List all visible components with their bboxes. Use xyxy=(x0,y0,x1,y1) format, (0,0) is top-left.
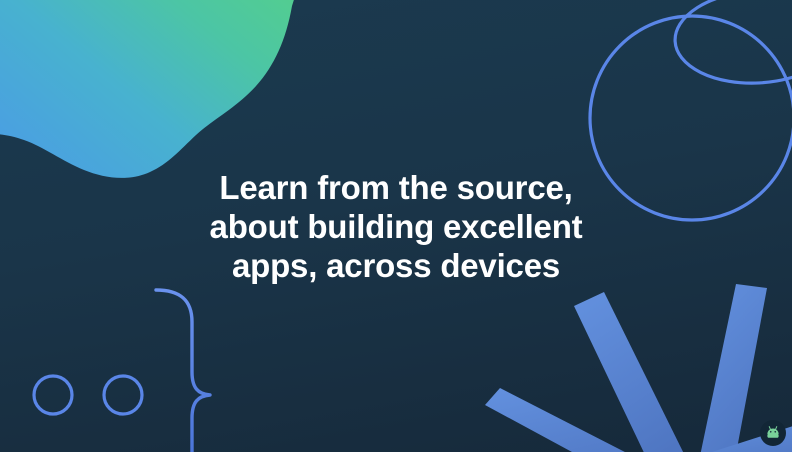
small-circle-left xyxy=(34,376,72,414)
fan-bars-group xyxy=(485,284,792,452)
curly-brace-outline xyxy=(156,290,210,452)
large-ring-outline xyxy=(590,16,792,220)
android-bugdroid-icon xyxy=(764,424,782,442)
fan-bar-3 xyxy=(695,284,767,452)
small-circle-right xyxy=(104,376,142,414)
presentation-slide: Learn from the source, about building ex… xyxy=(0,0,792,452)
gradient-blob xyxy=(0,0,300,178)
slide-background-graphics xyxy=(0,0,792,452)
android-logo-badge xyxy=(760,420,786,446)
fan-bar-2 xyxy=(574,292,692,452)
small-ring-outline xyxy=(673,0,792,87)
